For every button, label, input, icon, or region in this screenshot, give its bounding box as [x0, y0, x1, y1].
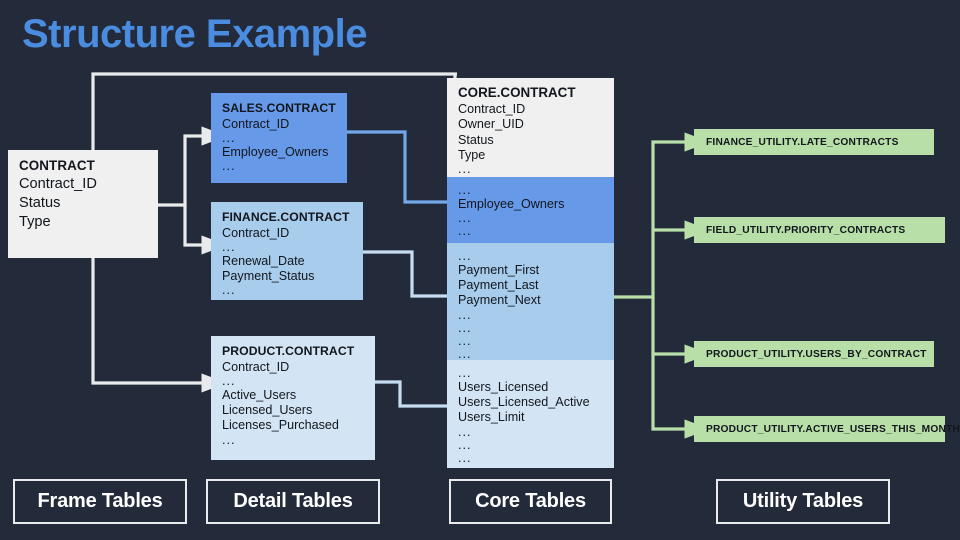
table-field: Contract_ID [458, 102, 604, 117]
detail-table-finance-contract[interactable]: FINANCE.CONTRACT Contract_ID ... Renewal… [211, 202, 363, 300]
table-field: Renewal_Date [222, 254, 353, 269]
table-field-ellipsis: ... [222, 132, 337, 145]
table-field-ellipsis: ... [222, 284, 353, 297]
table-title: CONTRACT [19, 158, 148, 174]
table-field-ellipsis: ... [458, 452, 604, 465]
table-field: Type [19, 213, 148, 232]
frame-table-contract[interactable]: CONTRACT Contract_ID Status Type [8, 150, 158, 258]
connector-contract-to-finance [185, 205, 203, 245]
table-field: Employee_Owners [222, 145, 337, 160]
table-field: Payment_Status [222, 269, 353, 284]
table-field-ellipsis: ... [458, 322, 604, 335]
table-field: Users_Limit [458, 410, 604, 425]
table-field-ellipsis: ... [458, 163, 604, 176]
table-field: Users_Licensed_Active [458, 395, 604, 410]
table-field: Payment_First [458, 263, 604, 278]
utility-table-finance-utility-late-contracts[interactable]: FINANCE_UTILITY.LATE_CONTRACTS [694, 129, 934, 155]
connector-contract-to-sales [158, 136, 203, 205]
table-field: Contract_ID [222, 226, 353, 241]
table-field-ellipsis: ... [222, 434, 365, 447]
table-field-ellipsis: ... [458, 348, 604, 360]
table-field-ellipsis: ... [222, 375, 365, 388]
utility-table-field-utility-priority-contracts[interactable]: FIELD_UTILITY.PRIORITY_CONTRACTS [694, 217, 945, 243]
legend-detail-tables: Detail Tables [206, 479, 380, 524]
table-field: Type [458, 148, 604, 163]
legend-frame-tables: Frame Tables [13, 479, 187, 524]
table-field-ellipsis: ... [458, 367, 604, 380]
table-field: Payment_Last [458, 278, 604, 293]
table-field: Employee_Owners [458, 197, 604, 212]
table-field: Status [458, 133, 604, 148]
table-field-ellipsis: ... [458, 225, 604, 238]
core-section-sales: ... Employee_Owners ... ... [447, 177, 614, 243]
connector-core-to-utility-0 [614, 142, 686, 297]
core-section-finance: ... Payment_First Payment_Last Payment_N… [447, 243, 614, 360]
table-field: Active_Users [222, 388, 365, 403]
table-field: Contract_ID [19, 175, 148, 194]
table-field-ellipsis: ... [458, 250, 604, 263]
table-title: FINANCE.CONTRACT [222, 210, 353, 225]
table-field: Status [19, 194, 148, 213]
legend-core-tables: Core Tables [449, 479, 612, 524]
table-field: Payment_Next [458, 293, 604, 308]
detail-table-sales-contract[interactable]: SALES.CONTRACT Contract_ID ... Employee_… [211, 93, 347, 183]
core-section-base: CORE.CONTRACT Contract_ID Owner_UID Stat… [447, 78, 614, 177]
table-field: Licensed_Users [222, 403, 365, 418]
table-field-ellipsis: ... [222, 160, 337, 173]
diagram-canvas: Structure Example CONTRACT Contract_ID S… [0, 0, 960, 540]
connector-contract-to-product [93, 258, 203, 383]
core-table-core-contract[interactable]: CORE.CONTRACT Contract_ID Owner_UID Stat… [447, 78, 614, 468]
table-field-ellipsis: ... [458, 309, 604, 322]
table-title: PRODUCT.CONTRACT [222, 344, 365, 359]
detail-table-product-contract[interactable]: PRODUCT.CONTRACT Contract_ID ... Active_… [211, 336, 375, 460]
core-section-product: ... Users_Licensed Users_Licensed_Active… [447, 360, 614, 468]
table-field: Contract_ID [222, 117, 337, 132]
table-title: CORE.CONTRACT [458, 85, 604, 101]
legend-utility-tables: Utility Tables [716, 479, 890, 524]
table-title: SALES.CONTRACT [222, 101, 337, 116]
connector-core-to-utility-3 [653, 354, 686, 429]
table-field: Users_Licensed [458, 380, 604, 395]
table-field-ellipsis: ... [458, 439, 604, 452]
table-field: Owner_UID [458, 117, 604, 132]
table-field: Licenses_Purchased [222, 418, 365, 433]
page-title: Structure Example [22, 12, 367, 57]
table-field-ellipsis: ... [458, 426, 604, 439]
table-field-ellipsis: ... [458, 335, 604, 348]
utility-table-product-utility-users-by-contract[interactable]: PRODUCT_UTILITY.USERS_BY_CONTRACT [694, 341, 934, 367]
table-field-ellipsis: ... [222, 241, 353, 254]
utility-table-product-utility-active-users-this-month[interactable]: PRODUCT_UTILITY.ACTIVE_USERS_THIS_MONTH [694, 416, 945, 442]
table-field-ellipsis: ... [458, 184, 604, 197]
table-field: Contract_ID [222, 360, 365, 375]
table-field-ellipsis: ... [458, 212, 604, 225]
connector-core-to-utility-2 [653, 297, 686, 354]
